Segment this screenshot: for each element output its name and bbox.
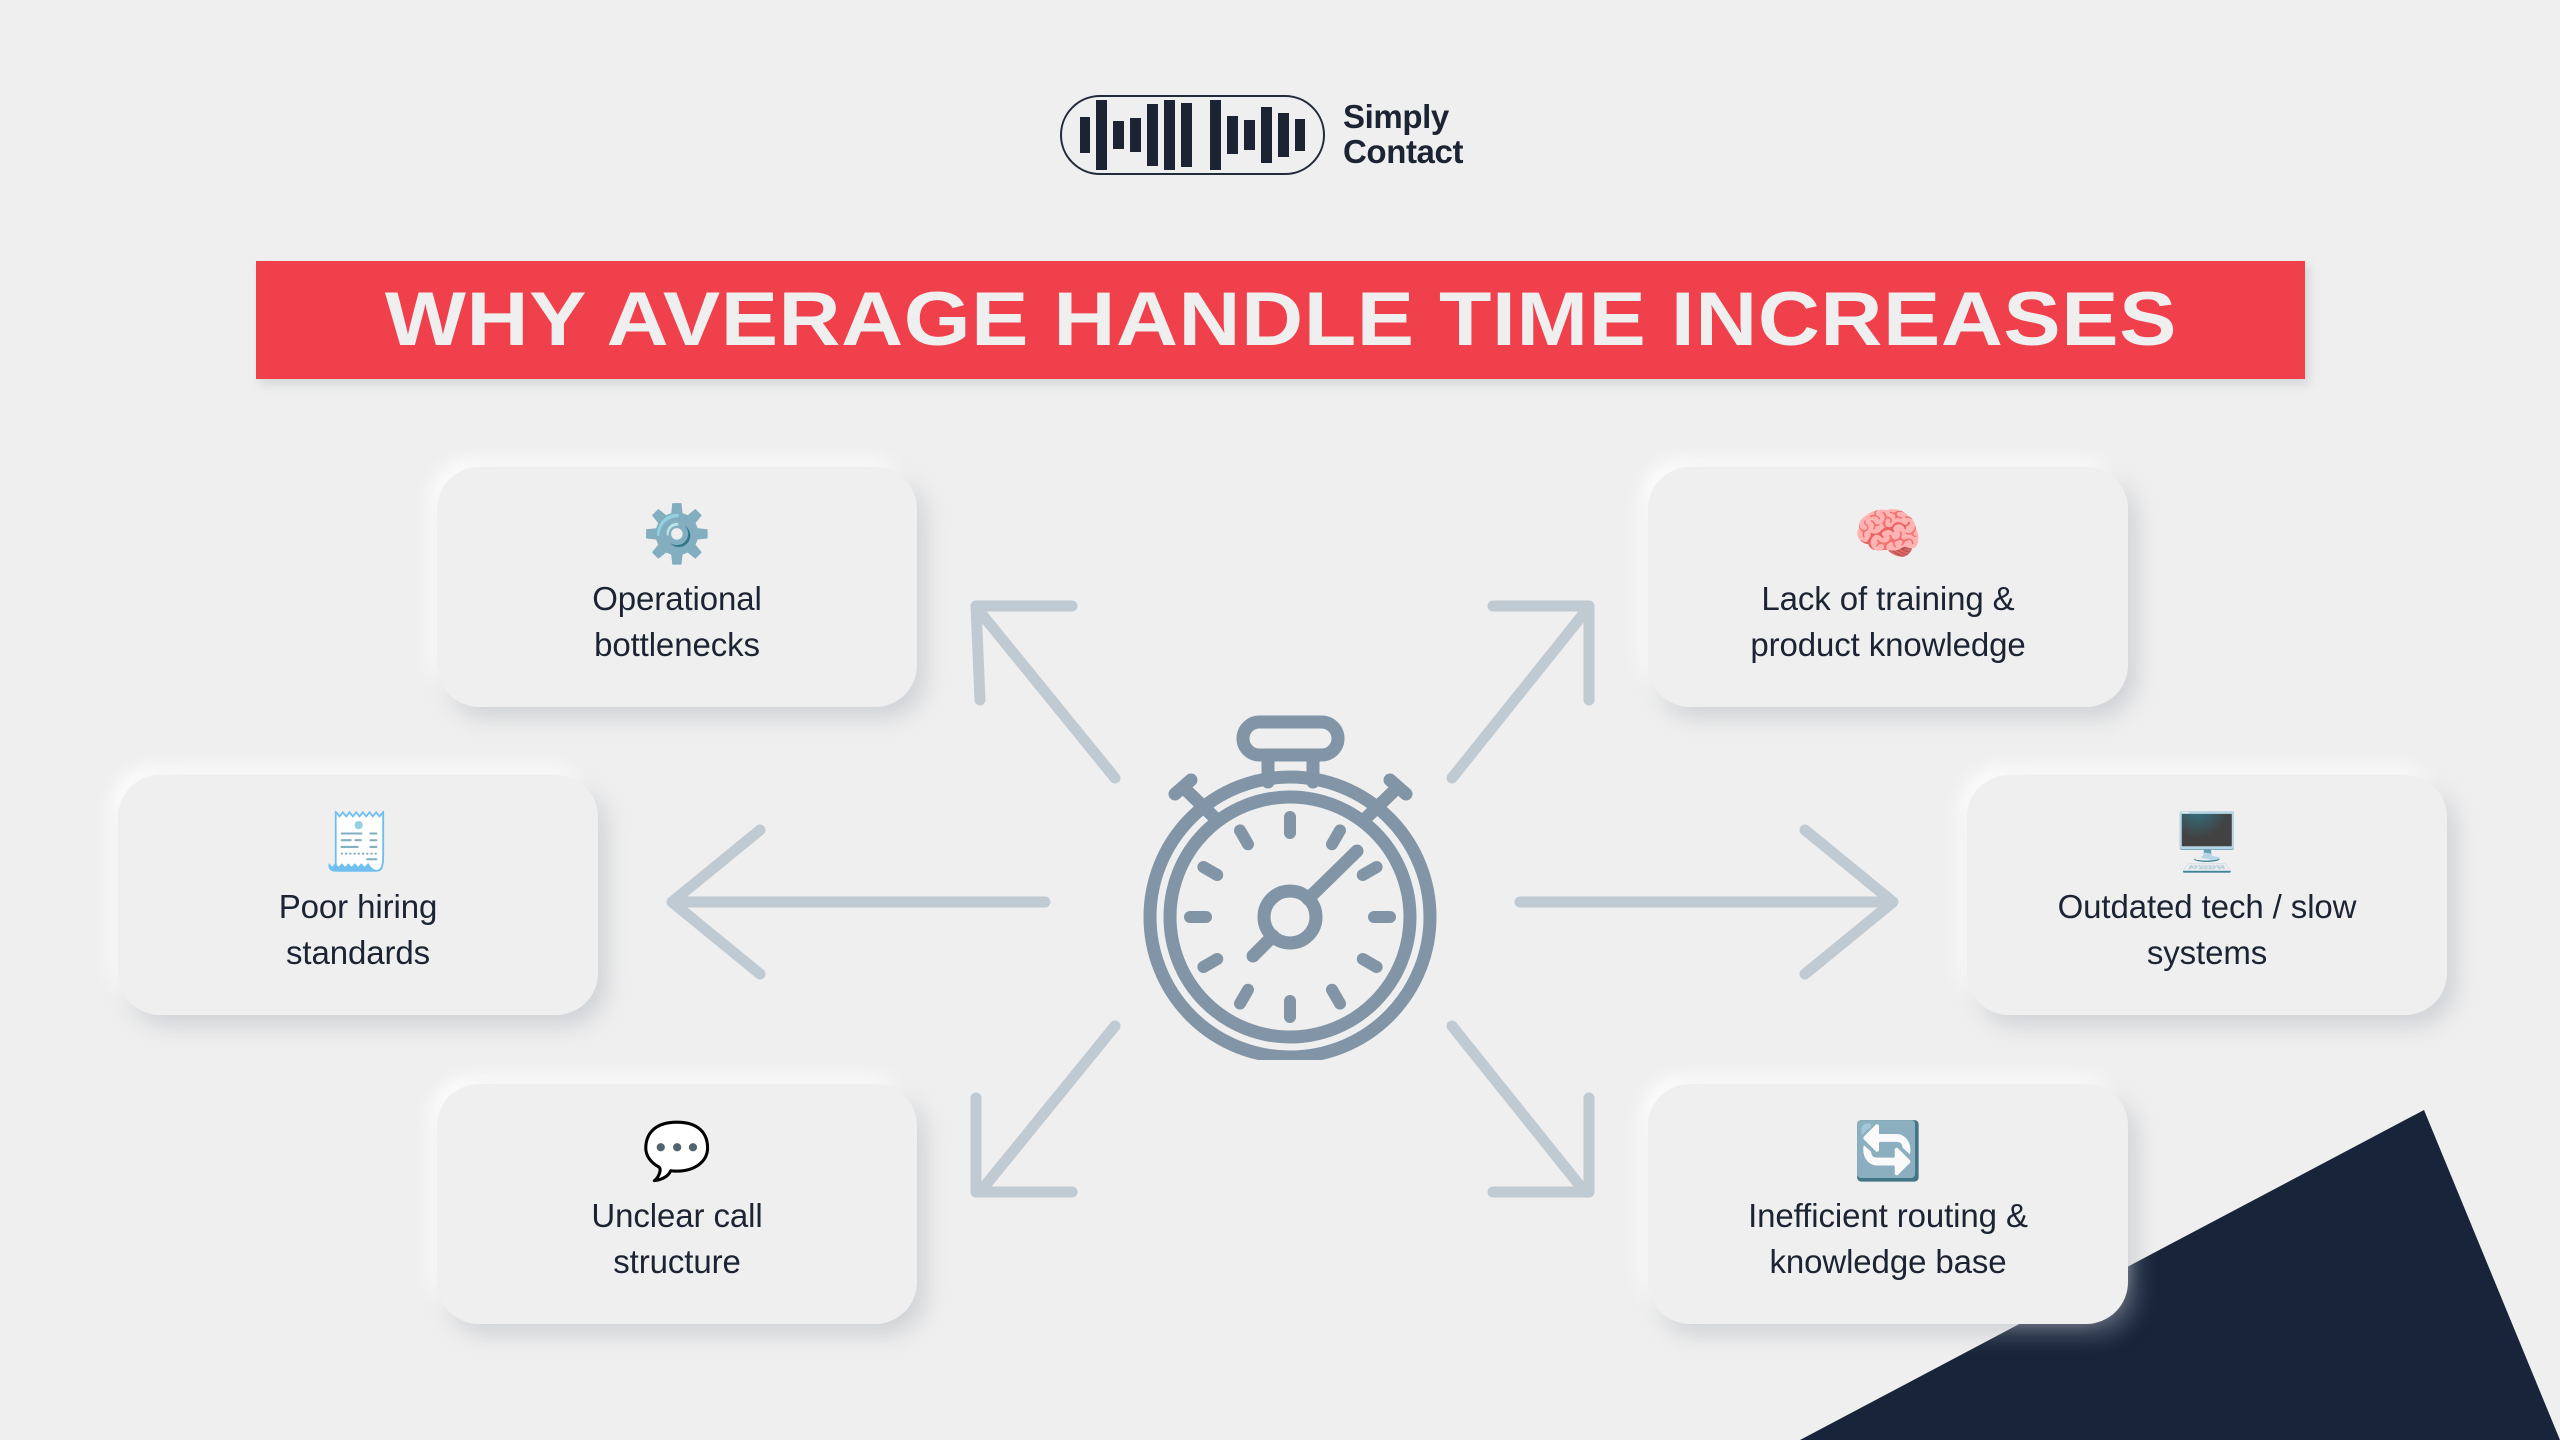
brain-icon: 🧠	[1853, 506, 1923, 562]
card-poor-hiring-standards[interactable]: 🧾 Poor hiring standards	[118, 775, 598, 1015]
brand-name-line2: Contact	[1343, 135, 1463, 170]
arrow-right	[1520, 830, 1893, 974]
arrow-down-left	[976, 1026, 1115, 1192]
card-inefficient-routing[interactable]: 🔄 Inefficient routing & knowledge base	[1648, 1084, 2128, 1324]
brand-name-line1: Simply	[1343, 100, 1463, 135]
card-label: Unclear call structure	[569, 1193, 784, 1285]
stopwatch-crown	[1243, 722, 1338, 755]
card-operational-bottlenecks[interactable]: ⚙️ Operational bottlenecks	[437, 467, 917, 707]
card-label: Inefficient routing & knowledge base	[1726, 1193, 2050, 1285]
stopwatch-second-hand	[1253, 936, 1273, 956]
arrow-up-left	[976, 606, 1115, 778]
brand-logo[interactable]: Simply Contact	[1060, 95, 1463, 175]
card-outdated-tech[interactable]: 🖥️ Outdated tech / slow systems	[1967, 775, 2447, 1015]
gear-icon: ⚙️	[642, 506, 712, 562]
desktop-computer-icon: 🖥️	[2172, 814, 2242, 870]
stopwatch-minute-hand	[1308, 851, 1357, 899]
counterclockwise-arrows-icon: 🔄	[1853, 1123, 1923, 1179]
card-lack-of-training[interactable]: 🧠 Lack of training & product knowledge	[1648, 467, 2128, 707]
title-banner: WHY AVERAGE HANDLE TIME INCREASES	[256, 261, 2305, 379]
card-label: Outdated tech / slow systems	[2036, 884, 2379, 976]
receipt-icon: 🧾	[323, 814, 393, 870]
infographic-canvas: Simply Contact WHY AVERAGE HANDLE TIME I…	[0, 0, 2560, 1440]
page-title: WHY AVERAGE HANDLE TIME INCREASES	[384, 282, 2176, 358]
arrow-up-right	[1452, 606, 1589, 778]
stopwatch-icon	[1125, 710, 1455, 1060]
speech-balloon-icon: 💬	[642, 1123, 712, 1179]
arrow-down-right	[1452, 1026, 1589, 1192]
card-label: Operational bottlenecks	[570, 576, 784, 668]
brand-name: Simply Contact	[1343, 100, 1463, 170]
card-unclear-call-structure[interactable]: 💬 Unclear call structure	[437, 1084, 917, 1324]
waveform-bars	[1080, 100, 1305, 170]
audio-waveform-logo	[1060, 95, 1325, 175]
card-label: Poor hiring standards	[257, 884, 460, 976]
arrow-left	[672, 830, 1045, 974]
card-label: Lack of training & product knowledge	[1728, 576, 2047, 668]
